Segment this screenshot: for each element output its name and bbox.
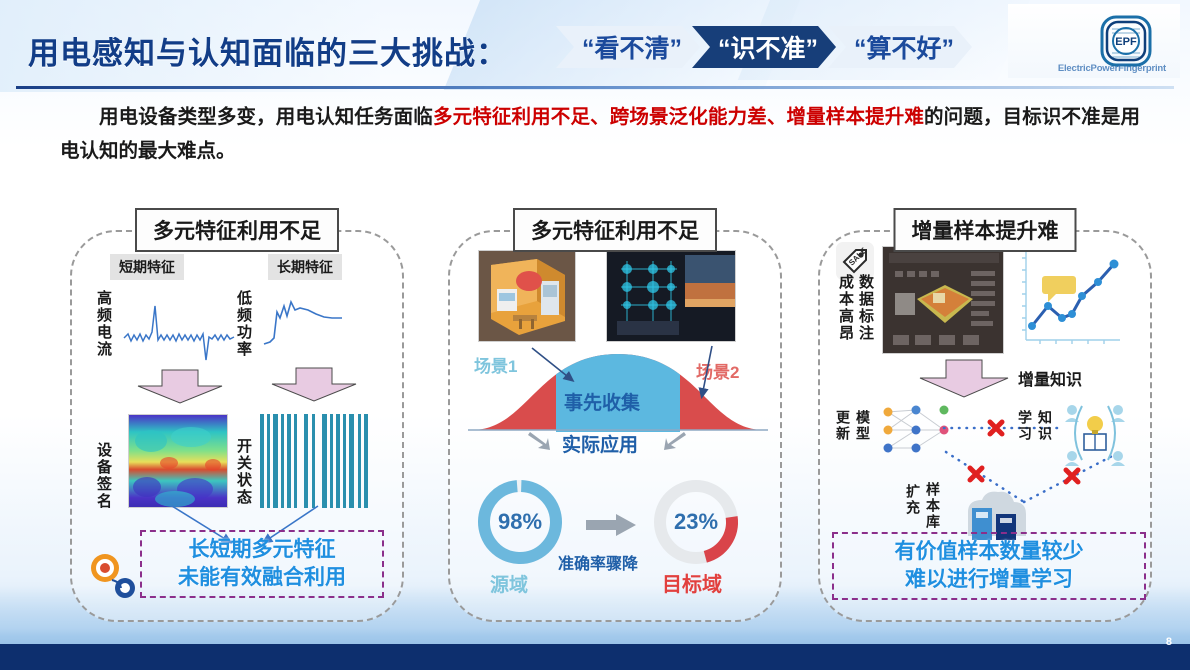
vlabel-update: 更新 <box>834 410 852 442</box>
gauge-transition-arrow-icon <box>586 514 636 536</box>
spectrogram-heatmap <box>128 414 228 508</box>
chevron-tab-shibuzhun[interactable]: “识不准” <box>692 26 836 68</box>
vlabel-expansion: 扩充 <box>904 484 922 516</box>
panel-1-title: 多元特征利用不足 <box>135 208 339 252</box>
chevron-tab-suanbuhao[interactable]: “算不好” <box>828 26 972 68</box>
tag-short-term-feature: 短期特征 <box>110 254 184 280</box>
conclusion-panel-1-line2: 未能有效融合利用 <box>150 564 374 592</box>
slide-root: 8 用电感知与认知面临的三大挑战： “看不清” “识不准” “算不好” EPF <box>0 0 1190 670</box>
down-arrow-long-term-icon <box>268 368 360 402</box>
conclusion-panel-3-line1: 有价值样本数量较少 <box>842 538 1136 566</box>
panel-multi-feature: 短期特征 长期特征 高频电流 低频功率 设备签名 开关状态 <box>62 208 412 626</box>
vlabel-device-signature: 设备签名 <box>94 442 112 510</box>
challenge-panels: 短期特征 长期特征 高频电流 低频功率 设备签名 开关状态 <box>0 208 1190 628</box>
label-target-domain: 目标域 <box>662 568 722 597</box>
label-precollected: 事先收集 <box>564 388 640 415</box>
vlabel-high-cost: 成本高昂 <box>836 274 854 342</box>
panel-incremental-sample: SALE 数据标注 成本高昂 <box>810 208 1160 626</box>
slide-header: 用电感知与认知面临的三大挑战： “看不清” “识不准” “算不好” EPF El… <box>0 0 1190 92</box>
panel-3-body: SALE 数据标注 成本高昂 <box>818 230 1152 622</box>
scene-2-image <box>606 250 736 342</box>
page-number: 8 <box>1166 636 1172 648</box>
gauge-source-domain: 98% <box>472 474 568 570</box>
waveform-low-freq-power <box>264 292 346 352</box>
grey-arrow-right-icon <box>662 430 686 452</box>
incremental-growth-chart <box>1016 244 1126 352</box>
switch-state-barcode <box>260 414 368 508</box>
logo-caption: ElectricPowerFingerprint <box>1058 63 1166 74</box>
svg-text:23%: 23% <box>674 509 718 534</box>
scene-1-image <box>478 250 576 342</box>
vlabel-data-annotation: 数据标注 <box>856 274 874 342</box>
label-actual-usage: 实际应用 <box>562 430 638 457</box>
vlabel-knowledge: 知识 <box>1036 410 1054 442</box>
vlabel-sample-library: 样本库 <box>924 482 942 530</box>
lede-paragraph: 用电设备类型多变，用电认知任务面临多元特征利用不足、跨场景泛化能力差、增量样本提… <box>60 100 1140 168</box>
conclusion-panel-1-line1: 长短期多元特征 <box>150 536 374 564</box>
panel-cross-scene: 场景1 场景2 <box>440 208 790 626</box>
vlabel-low-freq-power: 低频功率 <box>234 290 252 358</box>
panel-1-body: 短期特征 长期特征 高频电流 低频功率 设备签名 开关状态 <box>70 230 404 622</box>
conclusion-panel-1: 长短期多元特征 未能有效融合利用 <box>140 530 384 598</box>
panel-3-title: 增量样本提升难 <box>894 208 1077 252</box>
footer-bar <box>0 644 1190 670</box>
label-source-domain: 源域 <box>490 570 528 597</box>
lede-highlight: 多元特征利用不足、跨场景泛化能力差、增量样本提升难 <box>433 106 924 128</box>
vlabel-learning: 学习 <box>1016 410 1034 442</box>
label-incremental-knowledge: 增量知识 <box>1018 366 1082 390</box>
vlabel-model: 模型 <box>854 410 872 442</box>
panel-2-title: 多元特征利用不足 <box>513 208 717 252</box>
gauge-target-domain: 23% <box>648 474 744 570</box>
gears-icon <box>86 550 142 602</box>
svg-text:EPF: EPF <box>1115 36 1137 48</box>
down-arrow-incremental-icon <box>916 360 1012 398</box>
tag-long-term-feature: 长期特征 <box>268 254 342 280</box>
down-arrow-short-term-icon <box>134 370 226 404</box>
vlabel-high-freq-current: 高频电流 <box>94 290 112 358</box>
waveform-high-freq-current <box>124 294 234 366</box>
grey-arrow-left-icon <box>528 430 552 452</box>
page-title: 用电感知与认知面临的三大挑战： <box>28 28 508 73</box>
label-accuracy-drop: 准确率骤降 <box>558 550 638 574</box>
conclusion-panel-3-line2: 难以进行增量学习 <box>842 566 1136 594</box>
logo: EPF ElectricPowerFingerprint <box>1008 4 1180 78</box>
lede-segment-1: 用电设备类型多变，用电认知任务面临 <box>99 106 433 128</box>
conclusion-panel-3: 有价值样本数量较少 难以进行增量学习 <box>832 532 1146 600</box>
panel-2-body: 场景1 场景2 <box>448 230 782 622</box>
annotation-tool-image <box>882 246 1004 354</box>
svg-text:98%: 98% <box>498 509 542 534</box>
knowledge-sharing-icon <box>1060 400 1130 466</box>
challenge-chevron-nav: “看不清” “识不准” “算不好” <box>556 26 964 68</box>
header-divider <box>16 86 1174 89</box>
epf-logo-icon: EPF <box>1098 13 1154 69</box>
chevron-tab-kanbuqing[interactable]: “看不清” <box>556 26 700 68</box>
vlabel-switch-state: 开关状态 <box>234 438 252 506</box>
